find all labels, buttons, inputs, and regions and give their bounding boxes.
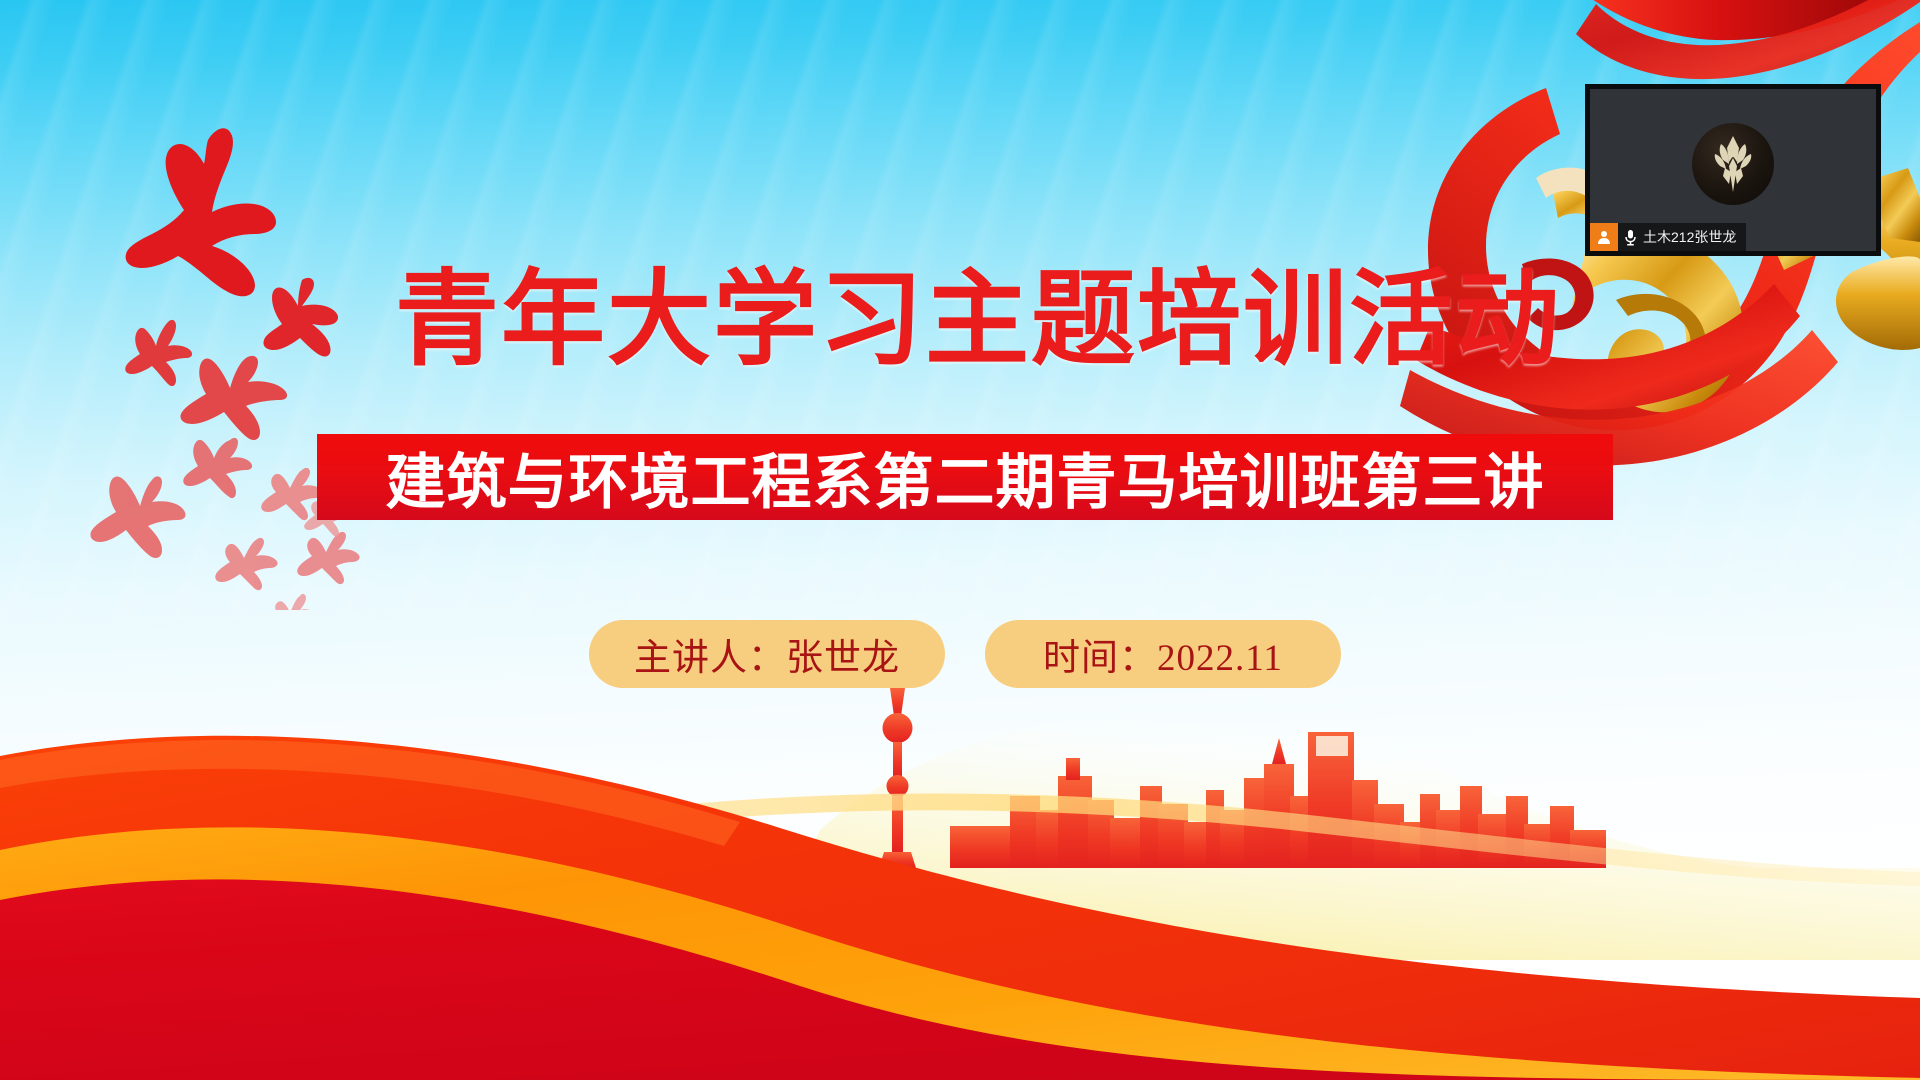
video-feed[interactable]: 土木212张世龙 bbox=[1590, 89, 1876, 251]
page-title: 青年大学习主题培训活动 bbox=[0, 264, 1920, 376]
presentation-slide: 青年大学习主题培训活动 建筑与环境工程系第二期青马培训班第三讲 主讲人：张世龙 … bbox=[0, 0, 1920, 1080]
date-label: 时间：2022.11 bbox=[1043, 627, 1283, 681]
speaker-pill: 主讲人：张世龙 bbox=[589, 620, 945, 688]
speaker-label: 主讲人：张世龙 bbox=[634, 627, 900, 681]
date-pill: 时间：2022.11 bbox=[985, 620, 1341, 688]
participant-name: 土木212张世龙 bbox=[1642, 223, 1746, 251]
info-pill-row: 主讲人：张世龙 时间：2022.11 bbox=[0, 620, 1920, 688]
subtitle-banner: 建筑与环境工程系第二期青马培训班第三讲 bbox=[317, 434, 1613, 520]
participant-name-bar: 土木212张世龙 bbox=[1590, 223, 1746, 251]
person-icon bbox=[1590, 223, 1618, 251]
video-overlay-panel[interactable]: 土木212张世龙 bbox=[1585, 84, 1881, 256]
microphone-icon bbox=[1618, 223, 1642, 251]
subtitle-text: 建筑与环境工程系第二期青马培训班第三讲 bbox=[386, 434, 1545, 521]
avatar bbox=[1692, 123, 1774, 205]
